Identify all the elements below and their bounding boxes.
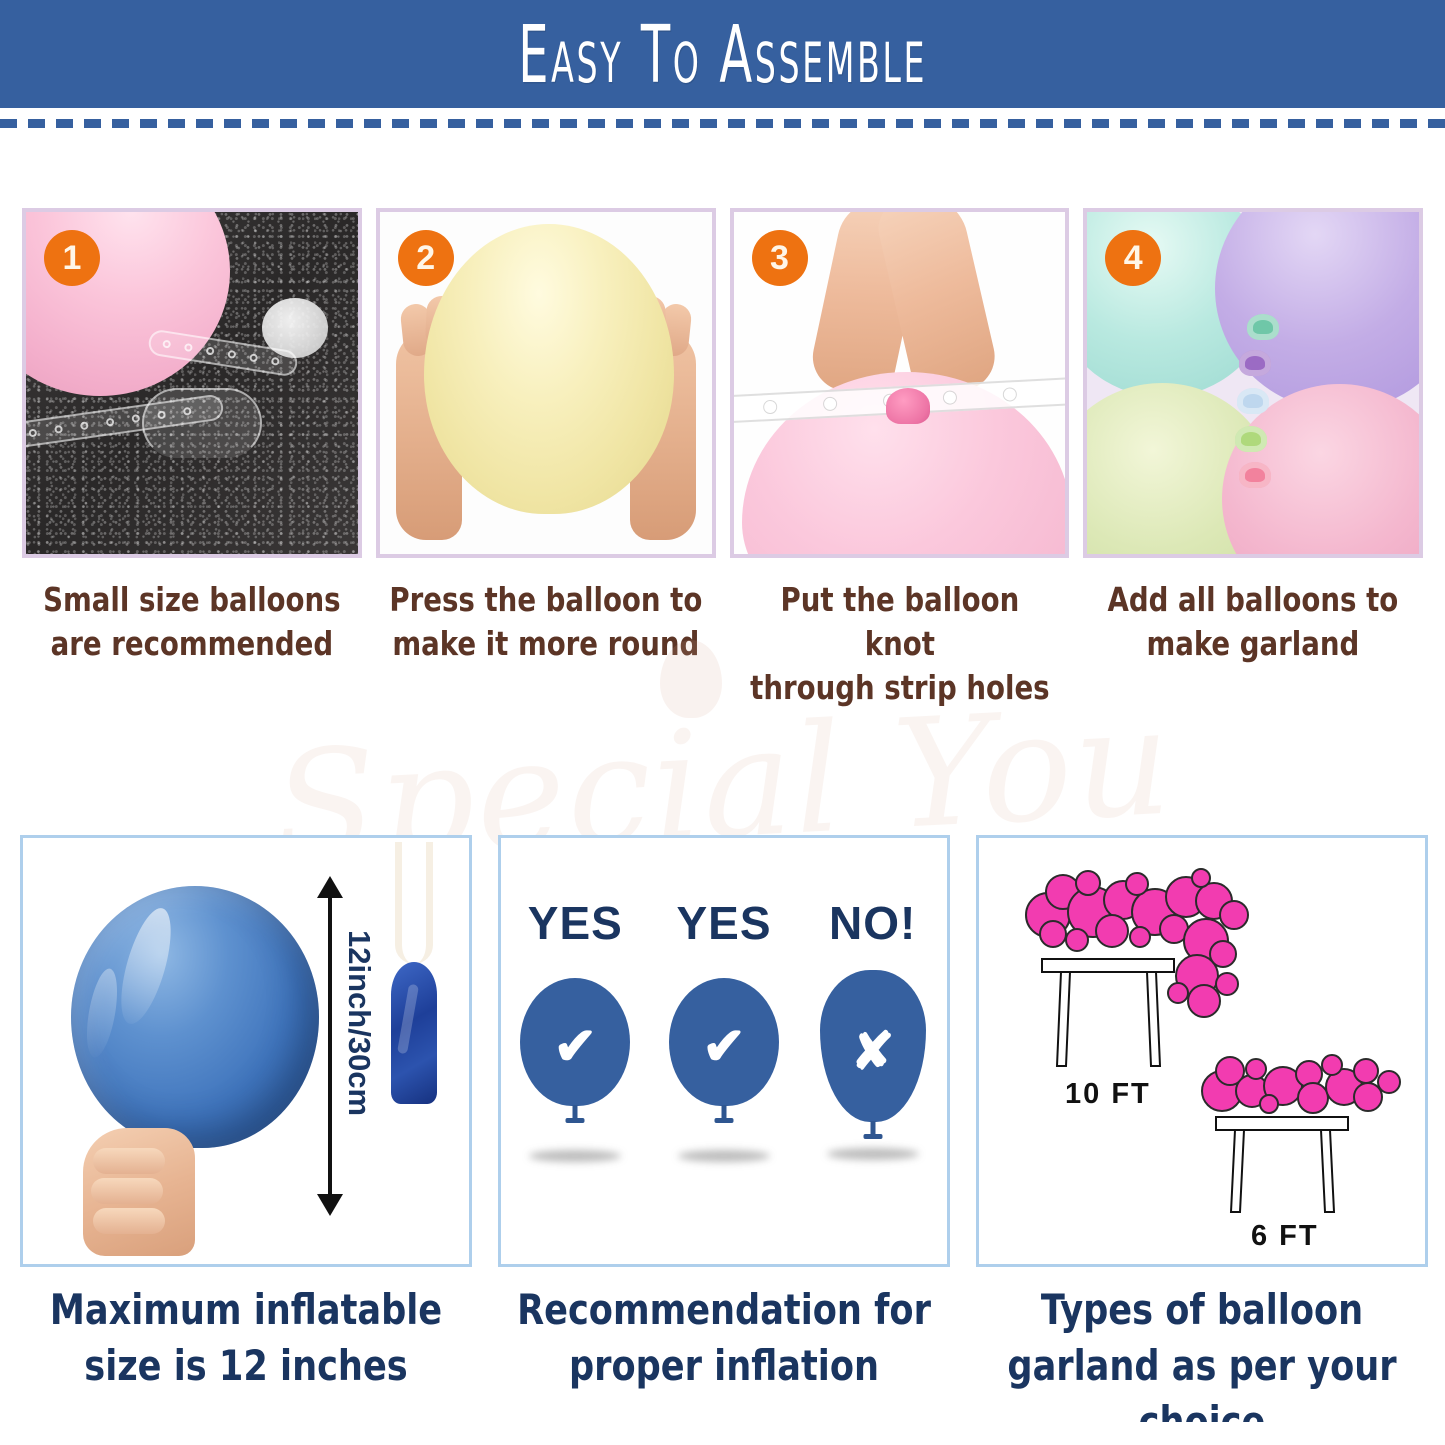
step-badge-2: 2 [398, 230, 454, 286]
step-badge-1: 1 [44, 230, 100, 286]
step-badge-4: 4 [1105, 230, 1161, 286]
garland-6ft [1201, 1054, 1401, 1114]
step-card-4: 4 [1083, 208, 1423, 558]
inflation-example-yes-2: YES ✔ [663, 896, 785, 1162]
panel-caption-garland-line1: Types of balloon [992, 1282, 1412, 1338]
balloon-tie [870, 1121, 875, 1136]
step-caption-2: Press the balloon to make it more round [388, 578, 704, 710]
balloon-tie [573, 1105, 578, 1120]
panel-max-size: 12inch/30cm [20, 835, 472, 1267]
panel-captions-row: Maximum inflatable size is 12 inches Rec… [20, 1282, 1428, 1422]
panel-caption-garland: Types of balloon garland as per your cho… [976, 1282, 1428, 1422]
step-card-3: 3 [730, 208, 1070, 558]
inflation-label-1: YES [514, 896, 636, 950]
cream-balloon [424, 224, 674, 514]
balloon-tie [721, 1105, 726, 1120]
balloon-shape-correct-2: ✔ [669, 978, 779, 1106]
table-6ft-icon [1215, 1116, 1349, 1216]
panel-garland-types: 10 FT [976, 835, 1428, 1267]
step-caption-2-line1: Press the balloon to [388, 578, 704, 622]
panel-caption-inflation-text: Recommendation for proper inflation [514, 1282, 934, 1394]
header-bar: Easy To Assemble [0, 0, 1445, 108]
panel-caption-inflation: Recommendation for proper inflation [498, 1282, 950, 1422]
step-caption-4-line1: Add all balloons to [1095, 578, 1411, 622]
infographic-page: Easy To Assemble 1 [0, 0, 1445, 1445]
step-captions-row: Small size balloons are recommended Pres… [22, 578, 1423, 710]
step-badge-3: 3 [752, 230, 808, 286]
balloon-clip-blue [1237, 388, 1269, 414]
balloon-clip-green [1235, 426, 1267, 452]
balloon-shadow [827, 1148, 919, 1160]
balloon-clip-purple [1239, 350, 1271, 376]
garland-label-10ft: 10 FT [1065, 1078, 1151, 1111]
measurement-arrow-icon [328, 896, 332, 1196]
page-title: Easy To Assemble [518, 7, 927, 100]
balloon-shadow [678, 1150, 770, 1162]
balloon-tail-decor [395, 842, 433, 964]
deflated-blue-balloon [391, 962, 437, 1104]
step-caption-4: Add all balloons to make garland [1095, 578, 1411, 710]
step-card-2: 2 [376, 208, 716, 558]
inflation-label-3: NO! [812, 896, 934, 950]
balloon-shadow [529, 1150, 621, 1162]
balloon-shape-correct-1: ✔ [520, 978, 630, 1106]
panel-caption-max-size-line1: Maximum inflatable [36, 1282, 456, 1338]
step-caption-1-line2: are recommended [34, 622, 350, 666]
cross-icon: ✘ [851, 1026, 895, 1078]
step-caption-1: Small size balloons are recommended [34, 578, 350, 710]
table-10ft-icon [1041, 958, 1175, 1070]
balloon-strip-curve [142, 388, 262, 458]
panel-caption-max-size-text: Maximum inflatable size is 12 inches [36, 1282, 456, 1394]
balloon-clip-mint [1247, 314, 1279, 340]
step-card-1: 1 [22, 208, 362, 558]
panel-caption-max-size-line2: size is 12 inches [36, 1338, 456, 1394]
step-caption-2-line2: make it more round [388, 622, 704, 666]
hand-holding-balloon [83, 1128, 195, 1256]
panel-proper-inflation: YES ✔ YES ✔ NO! [498, 835, 950, 1267]
measurement-label: 12inch/30cm [341, 930, 377, 1116]
check-icon: ✔ [702, 1021, 746, 1073]
steps-row: 1 2 [22, 208, 1423, 558]
panel-caption-max-size: Maximum inflatable size is 12 inches [20, 1282, 472, 1422]
inflation-example-yes-1: YES ✔ [514, 896, 636, 1162]
garland-label-6ft: 6 FT [1251, 1220, 1319, 1253]
step-caption-4-line2: make garland [1095, 622, 1411, 666]
dashed-divider [0, 119, 1445, 128]
panel-caption-garland-line2: garland as per your choice [992, 1338, 1412, 1422]
inflation-example-no: NO! ✘ [812, 896, 934, 1160]
step-caption-3-line1: Put the balloon knot [741, 578, 1057, 666]
garland-illustrations: 10 FT [979, 838, 1425, 1264]
info-panels-row: 12inch/30cm YES ✔ YES ✔ [20, 835, 1428, 1267]
inflation-label-2: YES [663, 896, 785, 950]
panel-caption-inflation-line2: proper inflation [514, 1338, 934, 1394]
check-icon: ✔ [554, 1021, 598, 1073]
inflation-examples: YES ✔ YES ✔ NO! [501, 896, 947, 1162]
balloon-shape-overinflated: ✘ [820, 970, 926, 1122]
step-caption-3-line2: through strip holes [741, 666, 1057, 710]
balloon-knot [886, 388, 930, 424]
step-caption-3: Put the balloon knot through strip holes [741, 578, 1057, 710]
step-caption-1-line1: Small size balloons [34, 578, 350, 622]
panel-caption-garland-text: Types of balloon garland as per your cho… [992, 1282, 1412, 1422]
balloon-clip-pink [1239, 462, 1271, 488]
panel-caption-inflation-line1: Recommendation for [514, 1282, 934, 1338]
